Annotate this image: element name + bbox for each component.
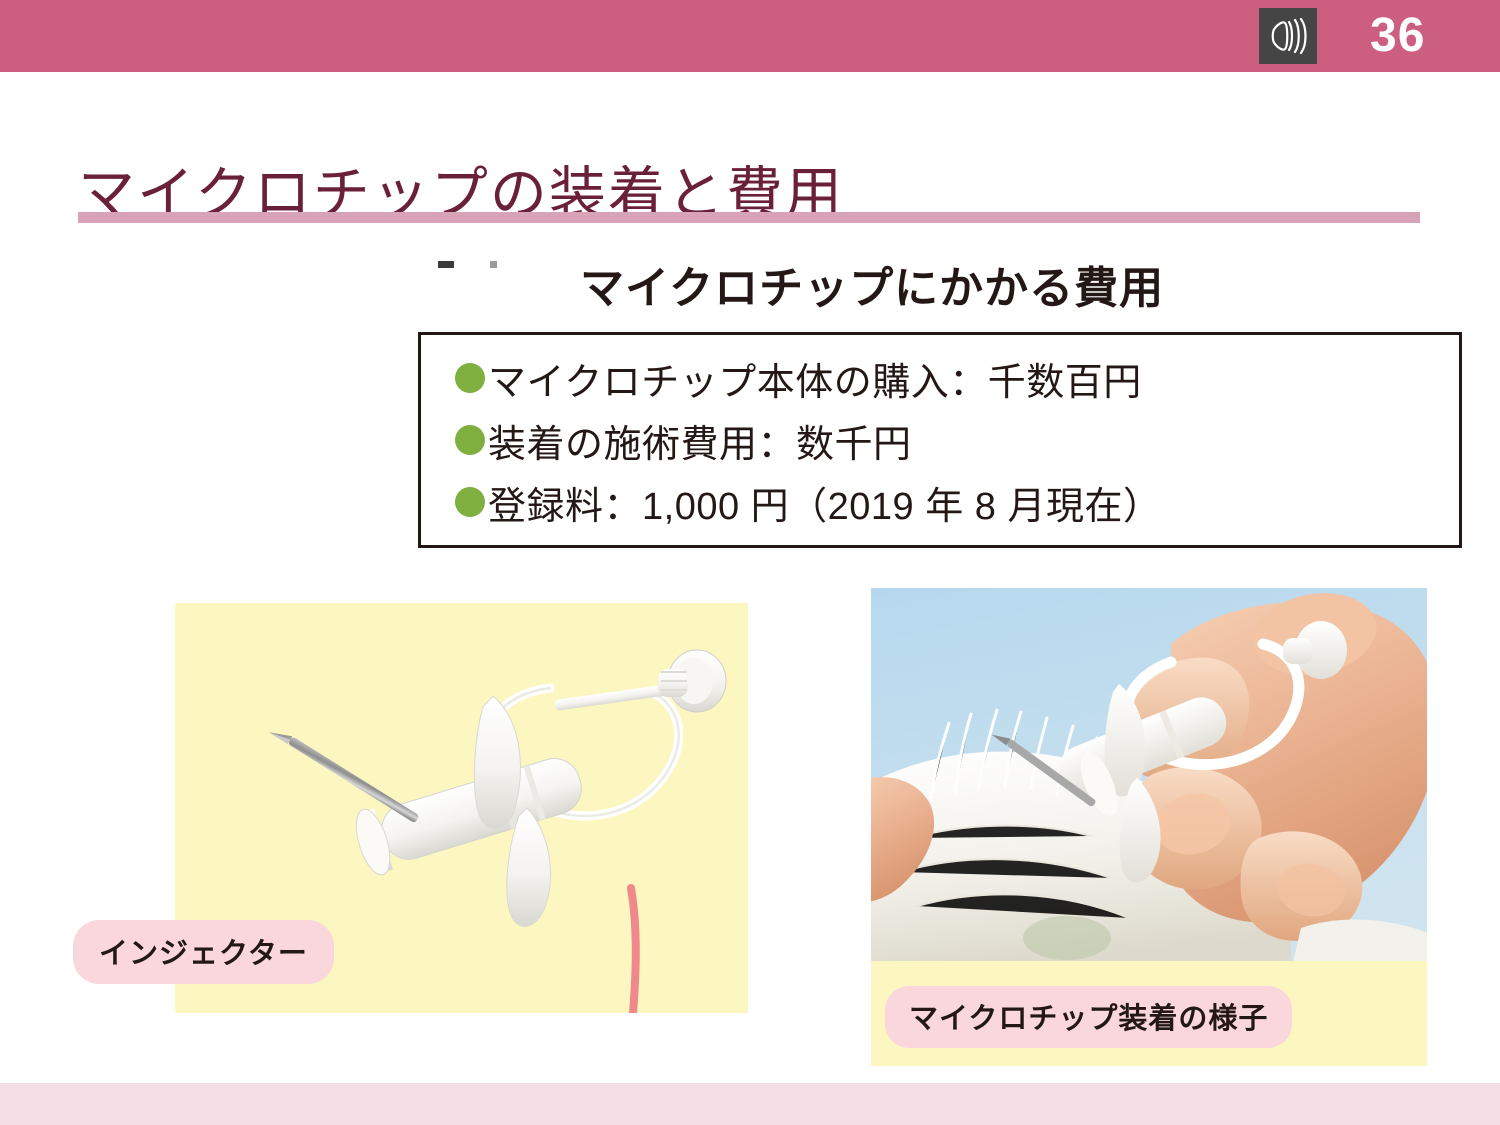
slide-number: 36: [1370, 4, 1480, 68]
list-item: 登録料：1,000 円（2019 年 8 月現在）: [455, 471, 1162, 533]
implantation-photo-image: [871, 588, 1427, 961]
title-underline: [78, 212, 1420, 223]
bullet-circle-icon: [455, 425, 485, 455]
cost-box: マイクロチップ本体の購入：千数百円 装着の施術費用：数千円 登録料：1,000 …: [418, 332, 1462, 548]
implantation-caption: マイクロチップ装着の様子: [885, 986, 1292, 1048]
speaker-icon[interactable]: [1259, 8, 1317, 64]
injector-caption: インジェクター: [73, 920, 334, 984]
scan-artifact-mark: [438, 261, 454, 268]
list-item-label: 装着の施術費用：数千円: [488, 413, 912, 468]
list-item-label: マイクロチップ本体の購入：千数百円: [488, 351, 1142, 406]
list-item: マイクロチップ本体の購入：千数百円: [455, 347, 1162, 409]
scan-artifact-mark: [490, 261, 497, 268]
header-bar: 36: [0, 0, 1500, 72]
content-heading: マイクロチップにかかる費用: [580, 252, 1164, 316]
list-item-label: 登録料：1,000 円（2019 年 8 月現在）: [488, 475, 1162, 530]
bullet-circle-icon: [455, 363, 485, 393]
implantation-photo: マイクロチップ装着の様子: [871, 588, 1427, 1066]
list-item: 装着の施術費用：数千円: [455, 409, 1162, 471]
bullet-circle-icon: [455, 487, 485, 517]
cost-list: マイクロチップ本体の購入：千数百円 装着の施術費用：数千円 登録料：1,000 …: [455, 347, 1162, 533]
footer-bar: [0, 1083, 1500, 1125]
